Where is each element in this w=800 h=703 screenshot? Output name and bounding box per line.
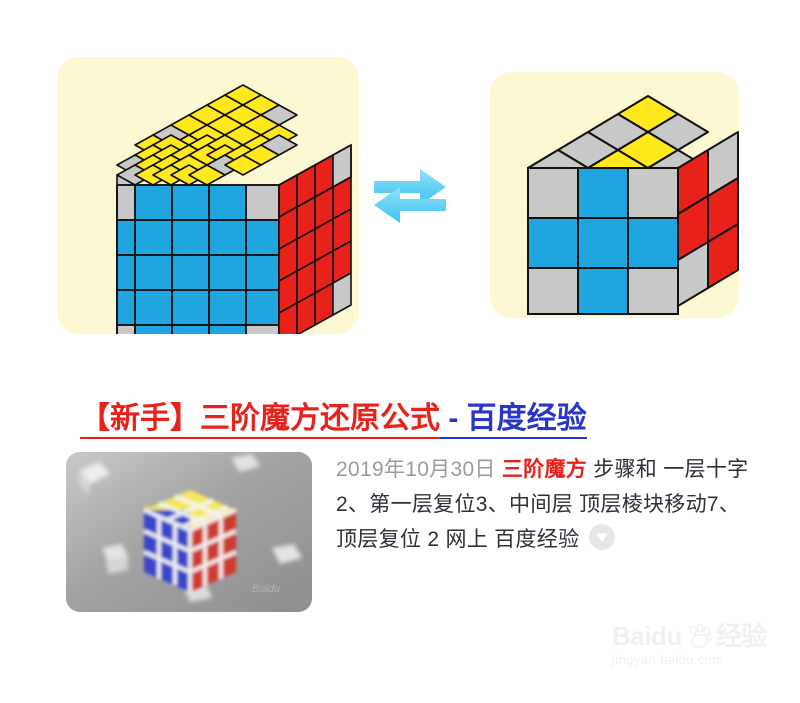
cube-illustration-panel-3x3 [490,72,739,318]
chevron-down-icon[interactable] [589,524,615,550]
result-title-source[interactable]: - 百度经验 [440,402,587,439]
video-thumbnail[interactable]: Baidu [66,452,312,612]
snippet-keyword: 三阶魔方 [502,458,587,481]
double-arrow-icon [372,163,448,227]
cube-5x5-svg [57,57,359,334]
result-title-main[interactable]: 【新手】三阶魔方还原公式 [80,402,440,439]
paw-print-icon [686,624,712,648]
cube-illustration-panel-5x5 [57,57,359,334]
result-snippet: 2019年10月30日 三阶魔方 步骤和 一层十字2、第一层复位3、中间层 顶层… [336,452,756,557]
svg-text:Baidu: Baidu [252,583,280,595]
watermark-url: jingyan.baidu.com [612,652,782,667]
cube-3x3-svg [490,72,739,318]
snippet-date: 2019年10月30日 [336,458,496,481]
watermark-brand: Baidu [612,622,682,650]
baidu-jingyan-watermark: Baidu 经验 jingyan.baidu.com [612,622,782,684]
watermark-brand-cn: 经验 [716,622,767,650]
video-thumbnail-image: Baidu [66,452,312,612]
result-title-link[interactable]: 【新手】三阶魔方还原公式 - 百度经验 [80,400,587,438]
search-result-page: 【新手】三阶魔方还原公式 - 百度经验 [0,0,800,703]
